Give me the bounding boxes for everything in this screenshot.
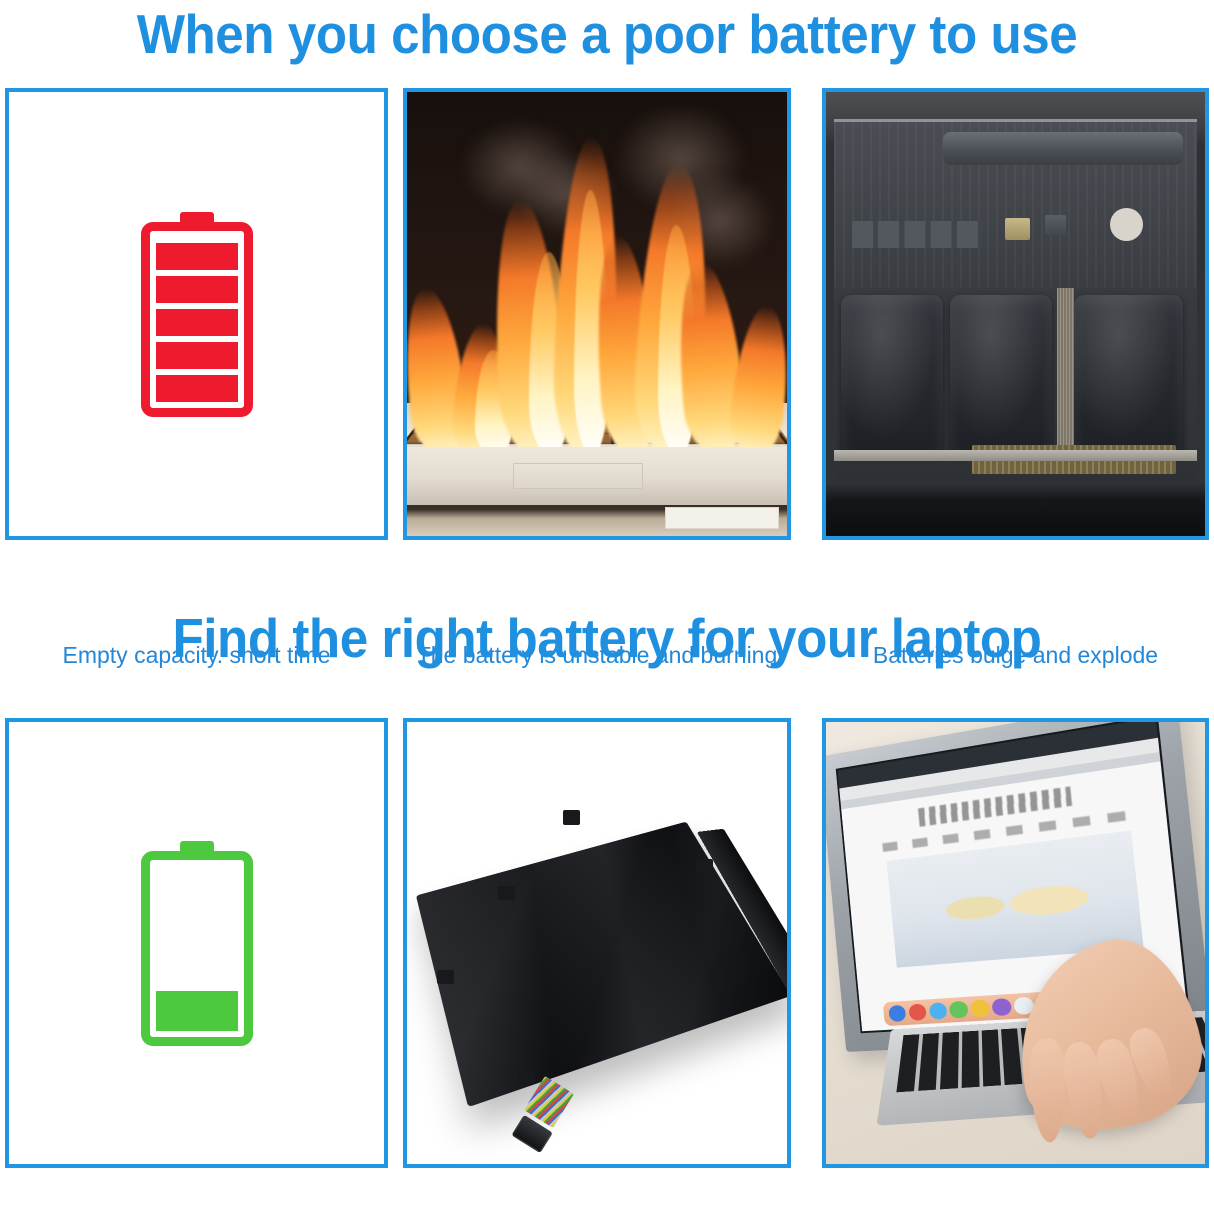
panel-brand-new-battery [5,718,388,1168]
laptop-trackpad [513,463,642,490]
battery-segment [156,991,238,1031]
burning-laptop-photo [407,92,787,536]
photo-label-strip [665,507,779,529]
battery-ribbon-cable [1057,288,1073,454]
dock-icon [992,998,1012,1016]
green-battery-illustration [9,722,384,1164]
bulging-battery-cell [950,295,1052,454]
dock-icon [970,1000,990,1018]
battery-segment [156,276,238,303]
heatsink-pipe [943,132,1183,165]
laptop-internals-bulging-battery-photo [826,92,1205,536]
section-1-heading: When you choose a poor battery to use [42,4,1171,64]
black-polymer-battery-pack-photo [407,722,787,1164]
mounting-tab [696,859,713,873]
battery-body [141,222,253,417]
dock-icon [928,1003,947,1020]
mounting-tab [563,810,580,824]
bulging-battery-cell [841,295,943,454]
panel-polymer-battery [403,718,791,1168]
dock-icon [949,1001,968,1018]
battery-segment [156,342,238,369]
infographic-page: When you choose a poor battery to use [0,0,1214,1208]
laptop-chassis [834,119,1198,483]
mounting-tab [498,886,515,900]
battery-segment [156,243,238,270]
red-battery-full-icon [141,212,253,417]
mounting-tab [517,1070,534,1084]
dock-icon [908,1004,927,1021]
green-battery-icon [141,841,253,1046]
panel-bulging-batteries [822,88,1209,540]
board-chip [1045,215,1067,235]
battery-segment [156,309,238,336]
panel-burning-battery [403,88,791,540]
panel-empty-capacity [5,88,388,540]
bulging-battery-cell [1074,295,1183,454]
dock-icon [888,1005,906,1022]
hand-typing-on-laptop-photo [826,722,1205,1164]
panel-explosion-proof [822,718,1209,1168]
battery-body [141,851,253,1046]
cooling-fan [852,137,947,217]
cpu-chip [1005,218,1030,240]
flame [726,303,791,459]
finger [1027,1038,1067,1143]
logic-board [834,122,1198,288]
mounting-tab [437,970,454,984]
board-component [1110,208,1143,241]
memory-chips [852,221,983,248]
chassis-rail [834,450,1198,461]
section-2-heading: Find the right battery for your laptop [42,608,1171,668]
battery-segment [156,375,238,402]
red-battery-illustration [9,92,384,536]
